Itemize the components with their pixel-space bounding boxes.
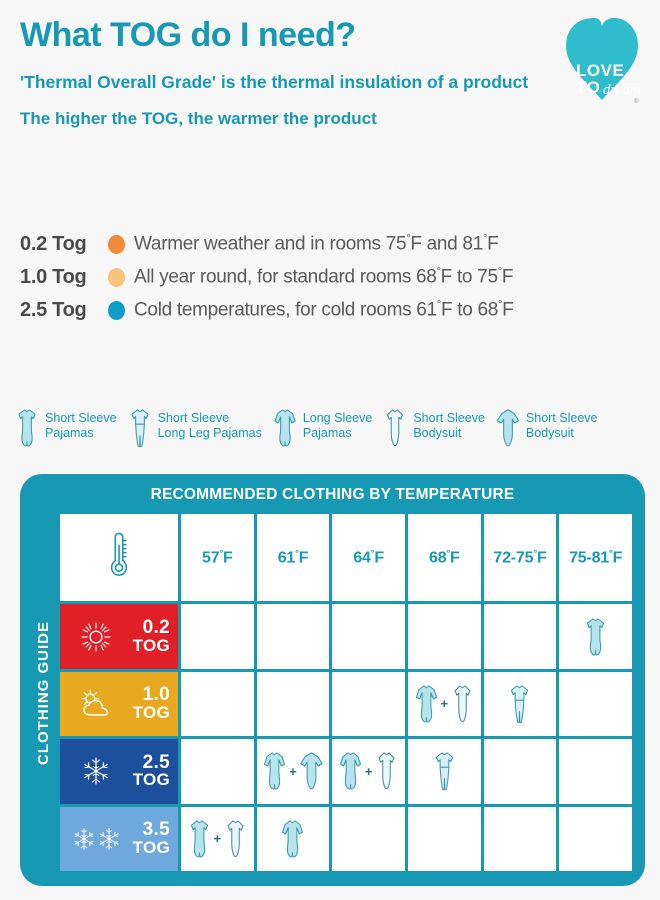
desc-pre: Warmer weather and in rooms 75 [134, 234, 406, 255]
column-header-4: 72-75°F [484, 514, 557, 601]
short-sleeve-pajamas-icon [583, 616, 608, 658]
tog-row-label-0.2: 0.2TOG [60, 604, 178, 668]
love-to-dream-heart-icon: LOVE TO dream ® [564, 14, 642, 106]
garment-legend-item: Long SleevePajamas [272, 408, 373, 448]
tog-unit: TOG [133, 772, 170, 789]
cell-contents [408, 739, 481, 803]
column-header-1: 61°F [257, 514, 330, 601]
cell-r0-c0[interactable] [181, 604, 254, 668]
tog-badge-text: 3.5TOG [133, 821, 170, 856]
cell-contents: + [408, 672, 481, 736]
cell-r0-c3[interactable] [408, 604, 481, 668]
short-sleeve-bodysuit-wide-icon [299, 750, 324, 792]
cell-r3-c0[interactable]: + [181, 807, 254, 871]
long-sleeve-pajamas-icon [262, 750, 287, 792]
cell-r0-c1[interactable] [257, 604, 330, 668]
garment-legend-label-line1: Long Sleeve [303, 411, 373, 426]
cell-r1-c3[interactable]: + [408, 672, 481, 736]
long-sleeve-pajamas-icon [272, 408, 298, 448]
plus-separator: + [214, 831, 222, 846]
column-header-value: 72-75 [493, 549, 533, 566]
short-sleeve-bodysuit-narrow-icon [382, 408, 408, 448]
svg-text:®: ® [634, 98, 639, 105]
double-snowflake-icon [60, 827, 133, 851]
tog-color-dot [108, 301, 125, 320]
cell-contents [484, 672, 557, 736]
column-header-value: 64 [353, 549, 370, 566]
column-header-unit: F [223, 549, 233, 566]
tog-badge: 0.2TOG [60, 604, 178, 668]
tog-legend-row: 2.5 Tog Cold temperatures, for cold room… [20, 294, 640, 327]
tog-legend-row: 0.2 Tog Warmer weather and in rooms 75°F… [20, 228, 640, 261]
cell-r1-c0[interactable] [181, 672, 254, 736]
cell-r3-c2[interactable] [332, 807, 405, 871]
brand-logo: LOVE TO dream ® [564, 14, 642, 106]
grid-wrapper: CLOTHING GUIDE 57°F61°F64°F68°F72-75°F75… [30, 511, 635, 874]
garment-legend-label: Long SleevePajamas [303, 408, 373, 441]
column-header-2: 64°F [332, 514, 405, 601]
garment-legend-item: Short SleevePajamas [14, 408, 117, 448]
tog-badge: 3.5TOG [60, 807, 178, 871]
cell-r2-c5[interactable] [559, 739, 632, 803]
column-header-value: 68 [429, 549, 446, 566]
garment-legend-label-line1: Short Sleeve [158, 411, 262, 426]
cell-r2-c0[interactable] [181, 739, 254, 803]
tog-badge-text: 0.2TOG [133, 619, 170, 654]
table-header-row: 57°F61°F64°F68°F72-75°F75-81°F [60, 514, 632, 601]
column-header-unit: F [537, 549, 547, 566]
cell-r1-c5[interactable] [559, 672, 632, 736]
column-header-0: 57°F [181, 514, 254, 601]
short-sleeve-long-leg-pajamas-icon [127, 408, 153, 448]
cell-contents [559, 604, 632, 668]
garment-legend-label: Short SleevePajamas [45, 408, 117, 441]
garment-legend-item: Short SleeveBodysuit [495, 408, 598, 448]
desc-post: F [502, 267, 513, 288]
garment-legend: Short SleevePajamasShort SleeveLong Leg … [14, 408, 660, 448]
cell-r1-c1[interactable] [257, 672, 330, 736]
short-sleeve-bodysuit-narrow-icon [450, 683, 475, 725]
short-sleeve-pajamas-icon [187, 818, 212, 860]
table-row: 3.5TOG+ [60, 807, 632, 871]
tog-badge: 1.0TOG [60, 672, 178, 736]
short-sleeve-bodysuit-narrow-icon [223, 818, 248, 860]
desc-mid: F and 81 [410, 234, 483, 255]
garment-legend-label-line2: Pajamas [303, 426, 373, 441]
cell-r0-c5[interactable] [559, 604, 632, 668]
tog-color-dot [108, 268, 125, 287]
tog-badge-text: 1.0TOG [133, 686, 170, 721]
plus-separator: + [441, 696, 449, 711]
column-header-value: 57 [202, 549, 219, 566]
sun-cloud-icon [60, 689, 133, 718]
infographic-page: What TOG do I need? 'Thermal Overall Gra… [0, 0, 660, 900]
column-header-3: 68°F [408, 514, 481, 601]
tog-legend-name: 2.5 Tog [20, 299, 108, 322]
cell-r3-c5[interactable] [559, 807, 632, 871]
plus-separator: + [365, 764, 373, 779]
card-title: RECOMMENDED CLOTHING BY TEMPERATURE [30, 482, 635, 511]
cell-r0-c2[interactable] [332, 604, 405, 668]
garment-legend-label-line2: Pajamas [45, 426, 117, 441]
tog-value: 0.2 [143, 617, 170, 638]
subtitle-definition: 'Thermal Overall Grade' is the thermal i… [20, 70, 550, 95]
garment-legend-label-line2: Bodysuit [413, 426, 485, 441]
desc-pre: All year round, for standard rooms 68 [134, 267, 437, 288]
column-header-value: 75-81 [569, 549, 609, 566]
short-sleeve-bodysuit-wide-icon [495, 408, 521, 448]
garment-legend-label: Short SleeveBodysuit [413, 408, 485, 441]
table-corner-cell [60, 514, 178, 601]
garment-legend-item: Short SleeveBodysuit [382, 408, 485, 448]
column-header-5: 75-81°F [559, 514, 632, 601]
cell-r3-c1[interactable] [257, 807, 330, 871]
garment-legend-label-line1: Short Sleeve [526, 411, 598, 426]
tog-legend-row: 1.0 Tog All year round, for standard roo… [20, 261, 640, 294]
tog-badge: 2.5TOG [60, 739, 178, 803]
long-sleeve-pajamas-icon [280, 818, 305, 860]
column-header-value: 61 [278, 549, 295, 566]
svg-text:dream: dream [603, 82, 641, 98]
cell-r2-c1[interactable]: + [257, 739, 330, 803]
desc-post: F [502, 300, 513, 321]
plus-separator: + [289, 764, 297, 779]
long-sleeve-pajamas-icon [414, 683, 439, 725]
table-row: 2.5TOG++ [60, 739, 632, 803]
cell-r1-c2[interactable] [332, 672, 405, 736]
cell-r2-c3[interactable] [408, 739, 481, 803]
cell-r3-c4[interactable] [484, 807, 557, 871]
column-header-unit: F [299, 549, 309, 566]
desc-mid: F to 75 [441, 267, 498, 288]
desc-post: F [487, 234, 498, 255]
tog-row-label-1.0: 1.0TOG [60, 672, 178, 736]
column-header-unit: F [374, 549, 384, 566]
tog-unit: TOG [133, 638, 170, 655]
garment-legend-label: Short SleeveBodysuit [526, 408, 598, 441]
cell-r0-c4[interactable] [484, 604, 557, 668]
tog-badge-text: 2.5TOG [133, 754, 170, 789]
header: What TOG do I need? 'Thermal Overall Gra… [20, 18, 580, 129]
desc-pre: Cold temperatures, for cold rooms 61 [134, 300, 437, 321]
sun-icon [60, 622, 133, 652]
snowflake-icon [60, 756, 133, 786]
short-sleeve-pajamas-icon [14, 408, 40, 448]
short-sleeve-long-leg-pajamas-icon [432, 750, 457, 792]
side-label-text: CLOTHING GUIDE [35, 621, 52, 765]
table-row: 0.2TOG [60, 604, 632, 668]
cell-contents: + [181, 807, 254, 871]
tog-row-label-2.5: 2.5TOG [60, 739, 178, 803]
tog-unit: TOG [133, 840, 170, 857]
short-sleeve-bodysuit-narrow-icon [374, 750, 399, 792]
tog-color-dot [108, 235, 125, 254]
clothing-guide-card: RECOMMENDED CLOTHING BY TEMPERATURE CLOT… [20, 474, 645, 886]
tog-row-label-3.5: 3.5TOG [60, 807, 178, 871]
garment-legend-label-line2: Bodysuit [526, 426, 598, 441]
cell-r2-c2[interactable]: + [332, 739, 405, 803]
tog-legend-desc: Warmer weather and in rooms 75°F and 81°… [134, 233, 498, 255]
garment-legend-item: Short SleeveLong Leg Pajamas [127, 408, 262, 448]
column-header-unit: F [450, 549, 460, 566]
cell-r2-c4[interactable] [484, 739, 557, 803]
thermometer-icon [107, 529, 131, 581]
garment-legend-label-line2: Long Leg Pajamas [158, 426, 262, 441]
clothing-guide-side-label: CLOTHING GUIDE [30, 511, 57, 874]
tog-legend-desc: Cold temperatures, for cold rooms 61°F t… [134, 299, 513, 321]
page-title: What TOG do I need? [20, 18, 580, 54]
desc-mid: F to 68 [441, 300, 498, 321]
subtitle-tagline: The higher the TOG, the warmer the produ… [20, 109, 580, 129]
short-sleeve-long-leg-pajamas-icon [507, 683, 532, 725]
cell-contents: + [332, 739, 405, 803]
column-header-unit: F [613, 549, 623, 566]
cell-contents: + [257, 739, 330, 803]
tog-legend: 0.2 Tog Warmer weather and in rooms 75°F… [20, 228, 640, 327]
garment-legend-label: Short SleeveLong Leg Pajamas [158, 408, 262, 441]
table-row: 1.0TOG+ [60, 672, 632, 736]
svg-text:TO: TO [576, 78, 600, 97]
tog-legend-desc: All year round, for standard rooms 68°F … [134, 266, 513, 288]
tog-unit: TOG [133, 705, 170, 722]
garment-legend-label-line1: Short Sleeve [45, 411, 117, 426]
tog-legend-name: 1.0 Tog [20, 266, 108, 289]
tog-legend-name: 0.2 Tog [20, 233, 108, 256]
cell-r3-c3[interactable] [408, 807, 481, 871]
garment-legend-label-line1: Short Sleeve [413, 411, 485, 426]
cell-contents [257, 807, 330, 871]
long-sleeve-pajamas-icon [338, 750, 363, 792]
cell-r1-c4[interactable] [484, 672, 557, 736]
recommended-clothing-table: 57°F61°F64°F68°F72-75°F75-81°F0.2TOG1.0T… [57, 511, 635, 874]
tog-value: 3.5 [143, 819, 170, 840]
